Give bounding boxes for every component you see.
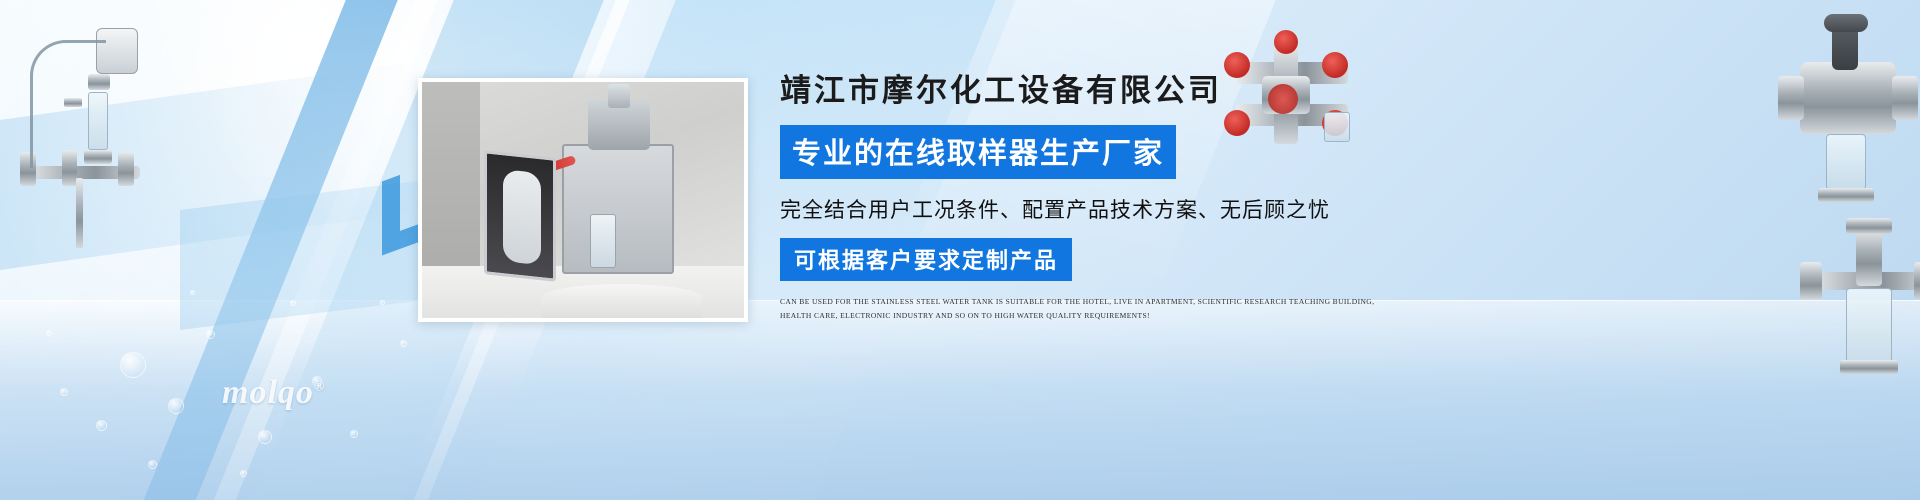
water-bubble bbox=[46, 330, 52, 336]
watermark-logo: molqo® bbox=[222, 374, 325, 412]
photo-sampler-top bbox=[608, 84, 630, 108]
water-bubble bbox=[148, 460, 157, 469]
r-eq-lever-grip bbox=[1824, 14, 1868, 32]
water-bubble bbox=[400, 340, 407, 347]
photo-sample-bottle bbox=[590, 214, 616, 268]
water-bubble bbox=[290, 300, 296, 306]
tagline-badge: 专业的在线取样器生产厂家 bbox=[780, 125, 1176, 179]
fineprint-text: CAN BE USED FOR THE STAINLESS STEEL WATE… bbox=[780, 295, 1380, 323]
left-eq-stem bbox=[76, 178, 83, 248]
r-eq-outlet bbox=[1818, 188, 1874, 202]
br-eq-end-left bbox=[1800, 262, 1822, 300]
water-bubble bbox=[168, 398, 184, 414]
br-eq-bottom-clamp bbox=[1840, 360, 1898, 374]
water-bubble bbox=[190, 290, 195, 295]
tr-eq-sight-glass bbox=[1324, 112, 1350, 142]
product-photo-image bbox=[422, 82, 744, 318]
water-bubble bbox=[350, 430, 358, 438]
watermark-text: molqo bbox=[222, 374, 314, 411]
tr-eq-handwheel-top bbox=[1274, 30, 1298, 54]
sub-headline: 完全结合用户工况条件、配置产品技术方案、无后顾之忧 bbox=[780, 194, 1420, 224]
photo-cabinet-body bbox=[562, 144, 674, 274]
left-eq-fitting bbox=[64, 98, 82, 107]
water-bubble bbox=[96, 420, 107, 431]
tr-eq-handwheel-3 bbox=[1224, 110, 1250, 136]
water-bubble bbox=[258, 430, 272, 444]
left-eq-valve-c bbox=[118, 152, 134, 186]
r-eq-sight-glass bbox=[1826, 134, 1866, 190]
br-eq-stem bbox=[1856, 228, 1882, 286]
water-bubble bbox=[380, 300, 385, 305]
tr-eq-handwheel-2 bbox=[1322, 52, 1348, 78]
water-bubble bbox=[206, 330, 215, 339]
photo-door-window bbox=[503, 169, 541, 265]
promo-banner: 靖江市摩尔化工设备有限公司 专业的在线取样器生产厂家 完全结合用户工况条件、配置… bbox=[0, 0, 1920, 500]
water-bubble bbox=[240, 470, 247, 477]
product-photo[interactable] bbox=[418, 78, 748, 322]
photo-pedestal bbox=[542, 284, 702, 318]
r-eq-flange-right bbox=[1892, 76, 1918, 120]
r-eq-body bbox=[1800, 62, 1896, 134]
watermark-registered-mark: ® bbox=[314, 380, 325, 395]
tr-eq-logo-badge bbox=[1268, 84, 1298, 114]
br-eq-end-right bbox=[1914, 262, 1920, 300]
r-eq-flange-left bbox=[1778, 76, 1804, 120]
photo-cabinet-door bbox=[484, 150, 556, 282]
water-bubble bbox=[120, 352, 146, 378]
water-bubble bbox=[60, 388, 68, 396]
tr-eq-handwheel-1 bbox=[1224, 52, 1250, 78]
customization-badge: 可根据客户要求定制产品 bbox=[780, 238, 1072, 281]
br-eq-sight-glass bbox=[1846, 288, 1892, 364]
br-eq-top-flange bbox=[1846, 218, 1892, 234]
